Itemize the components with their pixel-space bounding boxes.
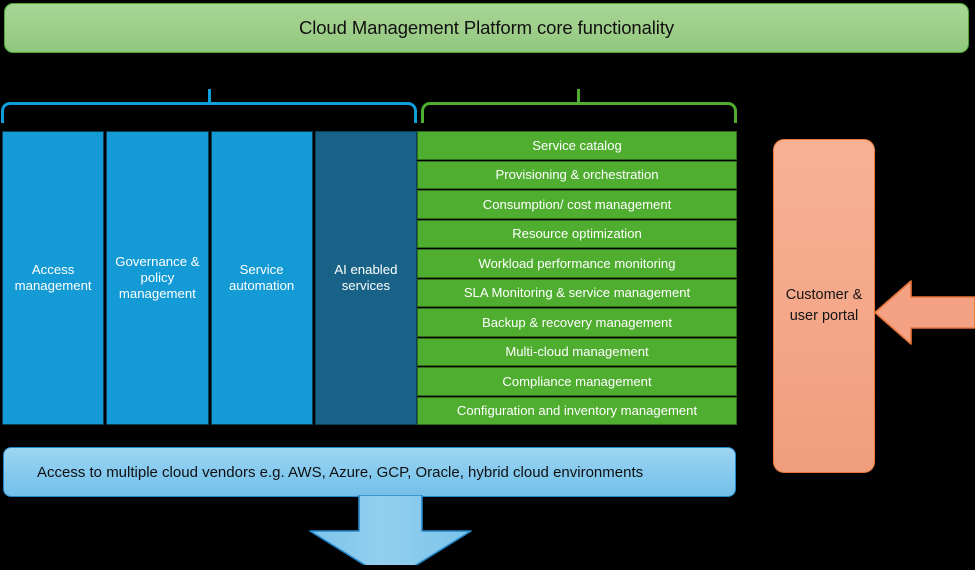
arrow-down-icon: [309, 495, 472, 565]
service-row-label: Workload performance monitoring: [479, 256, 676, 271]
service-row[interactable]: SLA Monitoring & service management: [417, 279, 737, 308]
service-row[interactable]: Compliance management: [417, 367, 737, 396]
service-capability-list: Service catalog Provisioning & orchestra…: [417, 131, 737, 425]
diagram-title-text: Cloud Management Platform core functiona…: [299, 17, 674, 39]
diagram-canvas: Cloud Management Platform core functiona…: [0, 0, 975, 560]
service-row[interactable]: Provisioning & orchestration: [417, 161, 737, 190]
diagram-title-banner: Cloud Management Platform core functiona…: [4, 3, 969, 53]
cloud-vendor-access-label: Access to multiple cloud vendors e.g. AW…: [37, 464, 643, 481]
cloud-vendor-access-bar[interactable]: Access to multiple cloud vendors e.g. AW…: [3, 447, 736, 497]
arrow-left-icon: [874, 277, 975, 348]
core-column[interactable]: Service automation: [211, 131, 313, 425]
service-row-label: Consumption/ cost management: [483, 197, 672, 212]
bracket-bar: [421, 102, 737, 123]
service-row[interactable]: Multi-cloud management: [417, 338, 737, 367]
core-capabilities-bracket: [1, 89, 417, 125]
service-row[interactable]: Service catalog: [417, 131, 737, 160]
service-row-label: Provisioning & orchestration: [495, 167, 658, 182]
core-column-label: Access management: [7, 262, 99, 294]
managed-services-bracket: [421, 89, 737, 125]
service-row-label: Resource optimization: [512, 226, 642, 241]
customer-user-portal-label: Customer & user portal: [774, 285, 874, 326]
core-column[interactable]: AI enabled services: [315, 131, 417, 425]
core-column-label: Governance & policy management: [111, 254, 203, 302]
core-capability-columns: Access management Governance & policy ma…: [2, 131, 417, 425]
service-row-label: Compliance management: [502, 374, 651, 389]
service-row-label: SLA Monitoring & service management: [464, 285, 690, 300]
core-column-label: Service automation: [216, 262, 308, 294]
core-column[interactable]: Governance & policy management: [106, 131, 208, 425]
service-row[interactable]: Workload performance monitoring: [417, 249, 737, 278]
core-column[interactable]: Access management: [2, 131, 104, 425]
service-row-label: Configuration and inventory management: [457, 403, 697, 418]
core-column-label: AI enabled services: [320, 262, 412, 294]
service-row[interactable]: Backup & recovery management: [417, 308, 737, 337]
service-row[interactable]: Consumption/ cost management: [417, 190, 737, 219]
service-row-label: Backup & recovery management: [482, 315, 672, 330]
service-row-label: Service catalog: [532, 138, 622, 153]
customer-user-portal-box[interactable]: Customer & user portal: [773, 139, 875, 473]
service-row-label: Multi-cloud management: [505, 344, 648, 359]
bracket-bar: [1, 102, 417, 123]
service-row[interactable]: Configuration and inventory management: [417, 397, 737, 426]
service-row[interactable]: Resource optimization: [417, 220, 737, 249]
